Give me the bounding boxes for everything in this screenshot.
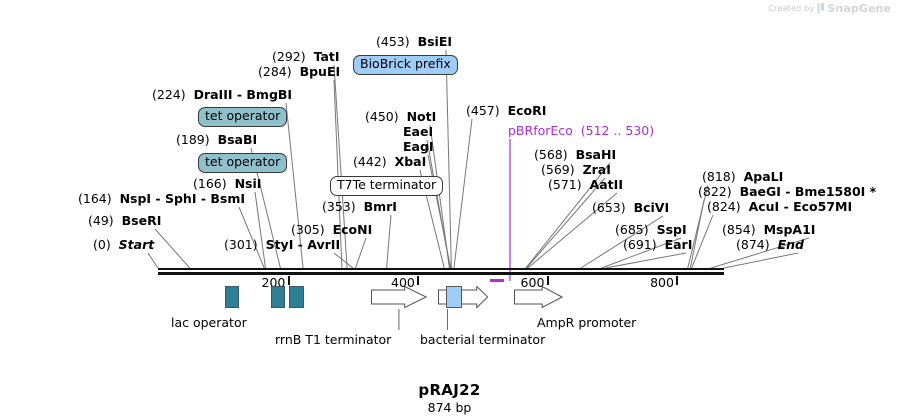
enzyme-label-mspa1i[interactable]: (854) MspA1I (722, 224, 815, 237)
enzyme-label-bpuei[interactable]: (284) BpuEI (258, 66, 340, 79)
track-feature-lac-operator[interactable] (225, 286, 239, 308)
enzyme-position: (854) (722, 222, 756, 237)
enzyme-name: ApaLI (744, 169, 784, 184)
enzyme-position: (305) (291, 222, 325, 237)
enzyme-position: (653) (592, 200, 626, 215)
leader-line-bsiei (446, 50, 451, 268)
enzyme-name: BsaBI (218, 132, 258, 147)
enzyme-label-zrai[interactable]: (569) ZraI (541, 164, 611, 177)
track-feature-biobrick-arrow[interactable] (461, 286, 488, 308)
ruler-tick-label-800: 800 (650, 275, 674, 290)
enzyme-name: SspI (657, 222, 687, 237)
enzyme-name: BpuEI (300, 64, 341, 79)
enzyme-position: (292) (272, 49, 306, 64)
enzyme-name: BmrI (364, 199, 397, 214)
enzyme-name: XbaI (395, 154, 427, 169)
enzyme-position: (49) (88, 213, 114, 228)
enzyme-name: TatI (314, 49, 340, 64)
leader-line-econi (356, 238, 366, 268)
enzyme-name: Start (119, 237, 155, 252)
ruler-tick-800 (676, 276, 678, 285)
enzyme-name: AcuI - Eco57MI (749, 199, 853, 214)
primer-name: pBRforEco (508, 123, 573, 138)
enzyme-label-aatii[interactable]: (571) AatII (548, 179, 623, 192)
enzyme-name: EarI (665, 237, 693, 252)
leader-line-ecori (454, 119, 472, 268)
enzyme-position: (874) (736, 237, 770, 252)
leader-line-baegi (690, 200, 704, 268)
enzyme-position: (457) (466, 103, 500, 118)
track-feature-label-ampr-promoter: AmpR promoter (537, 315, 636, 330)
track-feature-label-bacterial-terminator: bacterial terminator (420, 332, 545, 347)
track-feature-rrnb-t1-terminator[interactable] (371, 286, 427, 308)
enzyme-position: (0) (93, 237, 111, 252)
enzyme-name: ZraI (583, 162, 611, 177)
backbone-line-bottom (158, 272, 724, 275)
enzyme-label-baegi[interactable]: (822) BaeGI - Bme1580I * (698, 186, 876, 199)
enzyme-label-nspi[interactable]: (164) NspI - SphI - BsmI (78, 193, 245, 206)
arrow-shape-icon (515, 287, 563, 308)
feature-tag-tet-operator-1[interactable]: tet operator (198, 107, 287, 127)
enzyme-position: (569) (541, 162, 575, 177)
enzyme-position: (301) (224, 237, 258, 252)
track-feature-operator-box-3[interactable] (289, 286, 303, 308)
enzyme-name: DraIII - BmgBI (194, 87, 293, 102)
sequence-backbone (158, 268, 724, 275)
enzyme-label-noti[interactable]: (450) NotI (365, 111, 436, 124)
enzyme-position: (691) (623, 237, 657, 252)
enzyme-name: AatII (590, 177, 623, 192)
leader-line-start (148, 253, 158, 268)
feature-tag-biobrick-prefix[interactable]: BioBrick prefix (353, 55, 458, 75)
leader-line-styi (334, 253, 353, 268)
enzyme-name: NspI - SphI - BsmI (120, 191, 245, 206)
enzyme-name: EcoRI (508, 103, 547, 118)
enzyme-position: (571) (548, 177, 582, 192)
enzyme-label-bsabi[interactable]: (189) BsaBI (176, 134, 257, 147)
enzyme-position: (284) (258, 64, 292, 79)
enzyme-label-bsiei[interactable]: (453) BsiEI (376, 36, 452, 49)
arrow-shape-icon (372, 287, 427, 308)
enzyme-position: (824) (707, 199, 741, 214)
enzyme-label-bseri[interactable]: (49) BseRI (88, 215, 161, 228)
primer-range: (512 .. 530) (581, 123, 654, 138)
enzyme-position: (166) (193, 176, 227, 191)
enzyme-name: EagI (403, 139, 434, 154)
enzyme-name: NotI (407, 109, 437, 124)
enzyme-label-apali[interactable]: (818) ApaLI (702, 171, 783, 184)
plasmid-length: 874 bp (0, 400, 899, 415)
enzyme-position: (442) (353, 154, 387, 169)
enzyme-label-econi[interactable]: (305) EcoNI (291, 224, 372, 237)
enzyme-position: (453) (376, 34, 410, 49)
track-feature-operator-box-2[interactable] (271, 286, 285, 308)
backbone-line-top (158, 268, 724, 270)
enzyme-label-nsii[interactable]: (166) NsiI (193, 178, 261, 191)
enzyme-label-draiii[interactable]: (224) DraIII - BmgBI (152, 89, 292, 102)
leader-line-nsii (255, 192, 266, 268)
enzyme-label-bmri[interactable]: (353) BmrI (322, 201, 397, 214)
enzyme-position: (450) (365, 109, 399, 124)
enzyme-position: (164) (78, 191, 112, 206)
enzyme-label-eaei[interactable]: EaeI (403, 126, 433, 139)
feature-tag-tet-operator-2[interactable]: tet operator (198, 153, 287, 173)
enzyme-position: (822) (698, 184, 732, 199)
enzyme-label-tati[interactable]: (292) TatI (272, 51, 340, 64)
track-feature-label-rrnb-t1-terminator: rrnB T1 terminator (275, 332, 391, 347)
leader-line-bmri (387, 215, 391, 268)
enzyme-label-styi[interactable]: (301) StyI - AvrII (224, 239, 340, 252)
track-feature-label-lac-operator: lac operator (171, 315, 247, 330)
enzyme-name: BsiEI (418, 34, 452, 49)
ruler-tick-200 (288, 276, 290, 285)
enzyme-label-sspi[interactable]: (685) SspI (615, 224, 687, 237)
enzyme-name: End (778, 237, 804, 252)
enzyme-name: NsiI (235, 176, 262, 191)
enzyme-position: (353) (322, 199, 356, 214)
arrow-shape-icon (462, 287, 488, 308)
leader-line-bseri (155, 229, 190, 268)
enzyme-name: EcoNI (333, 222, 373, 237)
enzyme-label-bcivi[interactable]: (653) BciVI (592, 202, 669, 215)
enzyme-name: BciVI (634, 200, 670, 215)
enzyme-label-end[interactable]: (874) End (736, 239, 804, 252)
enzyme-label-xbai[interactable]: (442) XbaI (353, 156, 426, 169)
enzyme-label-eagi[interactable]: EagI (403, 141, 434, 154)
enzyme-name: EaeI (403, 124, 433, 139)
enzyme-name: BaeGI - Bme1580I * (740, 184, 877, 199)
enzyme-label-ecori[interactable]: (457) EcoRI (466, 105, 546, 118)
enzyme-name: BsaHI (576, 147, 617, 162)
leader-line-acui (692, 215, 713, 268)
leader-line-eagi (428, 155, 451, 268)
track-feature-ampr-promoter[interactable] (514, 286, 563, 308)
enzyme-name: StyI - AvrII (266, 237, 341, 252)
primer-binding-site-marker[interactable] (490, 279, 504, 282)
feature-tag-t7te-terminator[interactable]: T7Te terminator (330, 176, 443, 196)
enzyme-position: (189) (176, 132, 210, 147)
enzyme-position: (568) (534, 147, 568, 162)
enzyme-label-eari[interactable]: (691) EarI (623, 239, 692, 252)
enzyme-label-bsahi[interactable]: (568) BsaHI (534, 149, 616, 162)
ruler-tick-400 (417, 276, 419, 285)
enzyme-name: MspA1I (764, 222, 816, 237)
leader-line-eari (605, 253, 686, 268)
enzyme-name: BseRI (122, 213, 162, 228)
track-feature-biobrick-prefix-feat[interactable] (446, 286, 462, 308)
enzyme-label-start[interactable]: (0) Start (93, 239, 154, 252)
primer-label-pBRforEco[interactable]: pBRforEco (512 .. 530) (508, 125, 654, 138)
plasmid-map-canvas: Created by SnapGene (0) Start(49) BseRI(… (0, 0, 899, 419)
enzyme-position: (224) (152, 87, 186, 102)
enzyme-position: (685) (615, 222, 649, 237)
enzyme-label-acui[interactable]: (824) AcuI - Eco57MI (707, 201, 852, 214)
page-title: pRAJ22 (0, 381, 899, 399)
ruler-tick-600 (547, 276, 549, 285)
enzyme-position: (818) (702, 169, 736, 184)
